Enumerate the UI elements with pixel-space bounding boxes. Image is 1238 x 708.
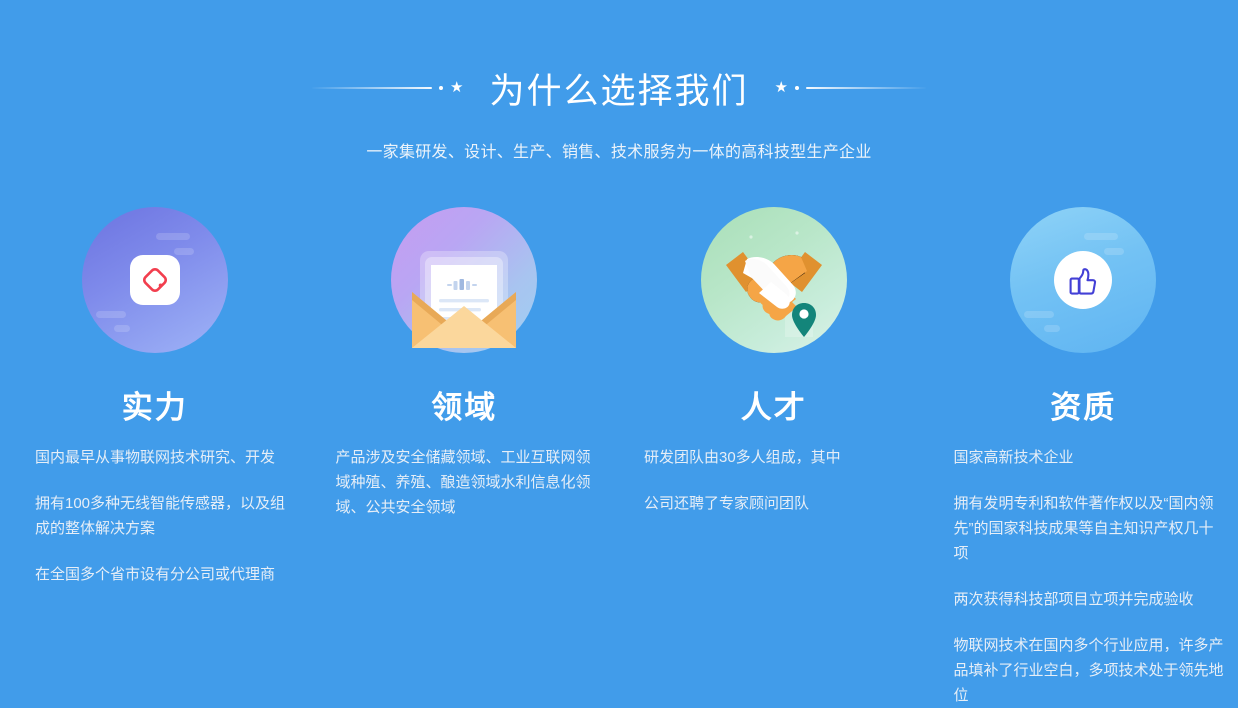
- feature-body-field: 产品涉及安全储藏领域、工业互联网领域种殖、养殖、酿造领域水利信息化领域、公共安全…: [310, 445, 620, 520]
- section-header: ★ 为什么选择我们 ★ 一家集研发、设计、生产、销售、技术服务为一体的高科技型生…: [0, 60, 1238, 162]
- feature-heading-strength: 实力: [122, 391, 188, 425]
- diamond-glyph: [138, 263, 172, 297]
- envelope-letter-icon: [391, 207, 537, 353]
- star-icon-left: ★: [450, 80, 463, 95]
- diamond-tile: [130, 255, 180, 305]
- feature-body-strength: 国内最早从事物联网技术研究、开发 拥有100多种无线智能传感器，以及组成的整体解…: [0, 445, 310, 587]
- star-icon-right: ★: [775, 80, 788, 95]
- title-decoration-right: ★: [775, 80, 926, 96]
- feature-paragraph: 国家高新技术企业: [954, 445, 1229, 470]
- feature-heading-field: 领域: [431, 391, 497, 425]
- section-title: 为什么选择我们: [489, 63, 748, 114]
- thumbs-up-disc: [1054, 251, 1112, 309]
- thumbs-up-glyph: [1065, 262, 1101, 298]
- feature-paragraph: 公司还聘了专家顾问团队: [644, 491, 915, 516]
- feature-column-quality: 资质 国家高新技术企业 拥有发明专利和软件著作权以及“国内领先”的国家科技成果等…: [929, 207, 1238, 708]
- title-row: ★ 为什么选择我们 ★: [0, 60, 1238, 116]
- feature-paragraph: 产品涉及安全储藏领域、工业互联网领域种殖、养殖、酿造领域水利信息化领域、公共安全…: [336, 445, 600, 520]
- title-decoration-left: ★: [312, 80, 463, 96]
- decoration-line-left: [312, 87, 432, 89]
- feature-column-talent: 人才 研发团队由30多人组成，其中 公司还聘了专家顾问团队: [619, 207, 929, 708]
- why-choose-us-section: ★ 为什么选择我们 ★ 一家集研发、设计、生产、销售、技术服务为一体的高科技型生…: [0, 0, 1238, 698]
- feature-paragraph: 物联网技术在国内多个行业应用，许多产品填补了行业空白，多项技术处于领先地位: [954, 633, 1229, 708]
- feature-column-field: 领域 产品涉及安全储藏领域、工业互联网领域种殖、养殖、酿造领域水利信息化领域、公…: [310, 207, 620, 708]
- feature-columns: 实力 国内最早从事物联网技术研究、开发 拥有100多种无线智能传感器，以及组成的…: [0, 207, 1238, 708]
- decoration-line-right: [806, 87, 926, 89]
- diamond-badge-icon: [82, 207, 228, 353]
- feature-column-strength: 实力 国内最早从事物联网技术研究、开发 拥有100多种无线智能传感器，以及组成的…: [0, 207, 310, 708]
- handshake-glyph: [701, 207, 847, 353]
- feature-paragraph: 拥有100多种无线智能传感器，以及组成的整体解决方案: [35, 491, 296, 541]
- feature-body-quality: 国家高新技术企业 拥有发明专利和软件著作权以及“国内领先”的国家科技成果等自主知…: [929, 445, 1238, 708]
- decoration-dot-left: [439, 86, 443, 90]
- feature-heading-talent: 人才: [741, 391, 807, 425]
- feature-paragraph: 国内最早从事物联网技术研究、开发: [35, 445, 296, 470]
- feature-paragraph: 在全国多个省市设有分公司或代理商: [35, 562, 296, 587]
- feature-paragraph: 研发团队由30多人组成，其中: [644, 445, 915, 470]
- feature-paragraph: 拥有发明专利和软件著作权以及“国内领先”的国家科技成果等自主知识产权几十项: [954, 491, 1229, 566]
- feature-paragraph: 两次获得科技部项目立项并完成验收: [954, 587, 1229, 612]
- handshake-location-icon: [701, 207, 847, 353]
- envelope-glyph: [391, 207, 537, 353]
- thumbs-up-icon: [1010, 207, 1156, 353]
- section-subtitle: 一家集研发、设计、生产、销售、技术服务为一体的高科技型生产企业: [0, 138, 1238, 162]
- feature-body-talent: 研发团队由30多人组成，其中 公司还聘了专家顾问团队: [619, 445, 929, 516]
- decoration-dot-right: [795, 86, 799, 90]
- feature-heading-quality: 资质: [1050, 391, 1116, 425]
